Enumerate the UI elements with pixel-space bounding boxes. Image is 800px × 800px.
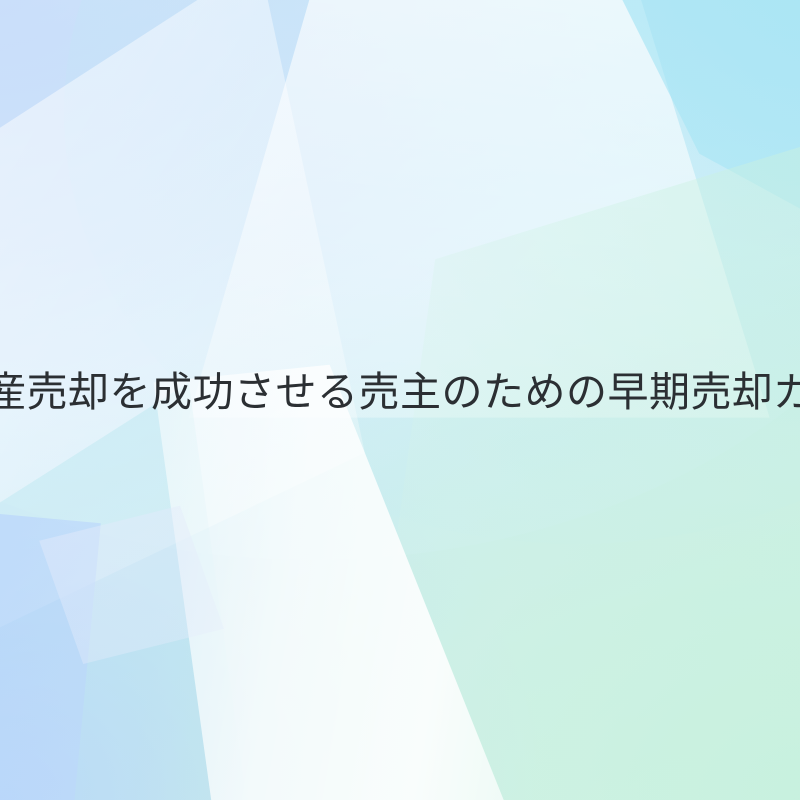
- headline-container: 不動産売却を成功させる売主のための早期売却ガイド: [0, 0, 800, 800]
- banner-headline: 不動産売却を成功させる売主のための早期売却ガイド: [0, 372, 800, 413]
- banner-canvas: 不動産売却を成功させる売主のための早期売却ガイド: [0, 0, 800, 800]
